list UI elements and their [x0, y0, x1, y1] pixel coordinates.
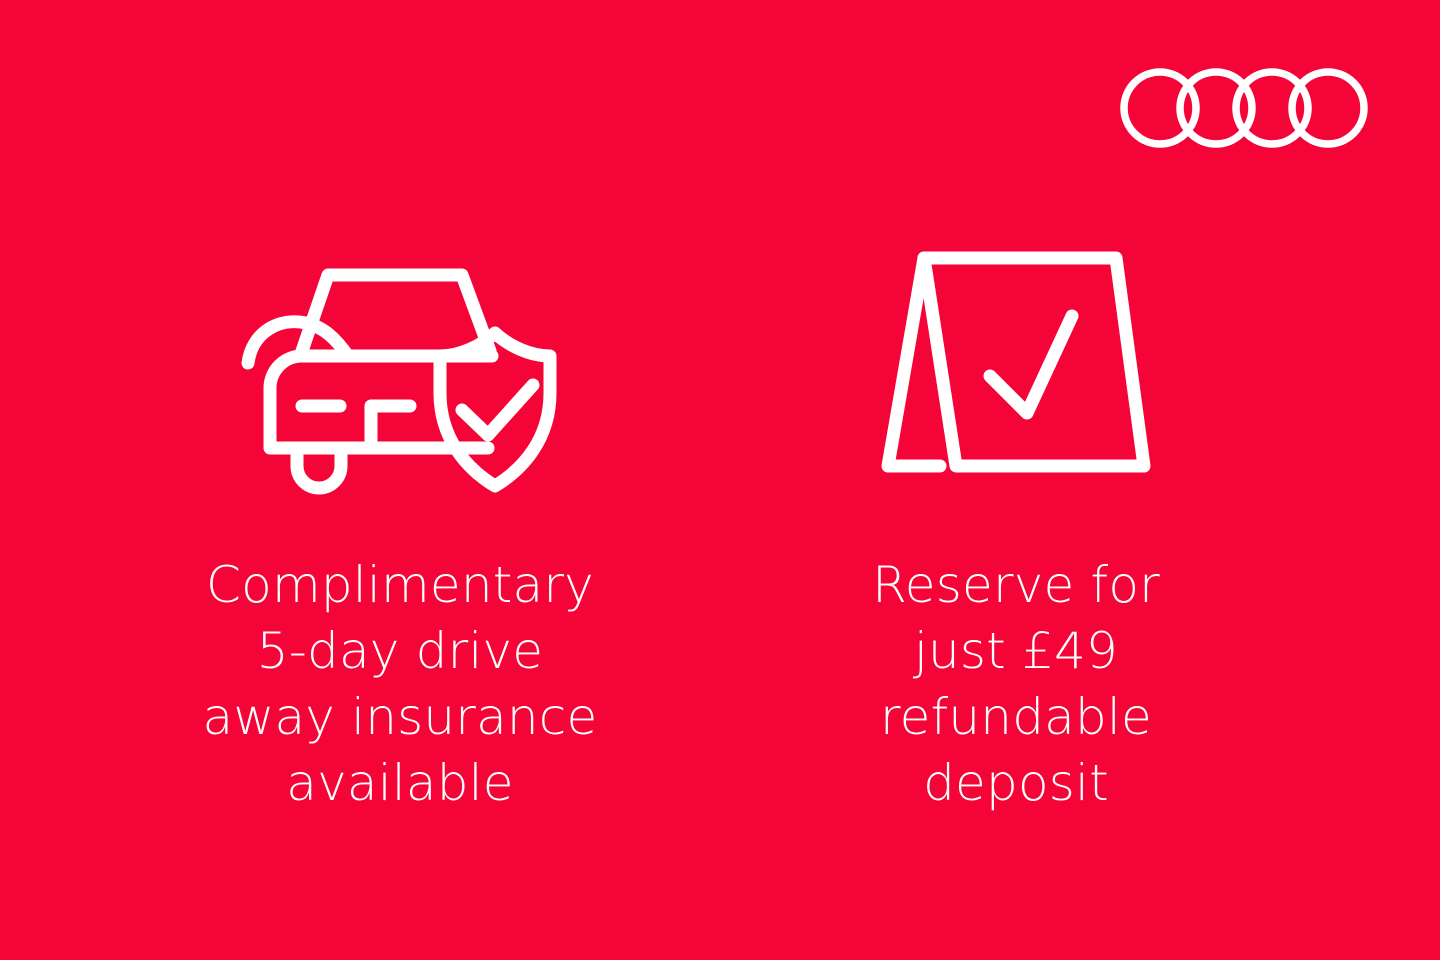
car-shield-icon-wrap [235, 240, 565, 490]
card-front-panel [924, 258, 1144, 466]
promo-banner: Complimentary 5-day drive away insurance… [0, 0, 1440, 960]
feature-caption-insurance: Complimentary 5-day drive away insurance… [120, 552, 680, 816]
shield-check-icon [462, 385, 533, 435]
car-shield-icon [240, 243, 560, 488]
card-check-icon [990, 316, 1072, 413]
folded-card-icon-wrap [851, 240, 1181, 490]
feature-caption-deposit: Reserve for just £49 refundable deposit [736, 552, 1296, 816]
feature-item-deposit: Reserve for just £49 refundable deposit [736, 0, 1296, 816]
car-handle-detail [371, 406, 410, 440]
feature-item-insurance: Complimentary 5-day drive away insurance… [120, 0, 680, 816]
folded-card-check-icon [880, 250, 1152, 480]
feature-list: Complimentary 5-day drive away insurance… [0, 0, 1440, 960]
